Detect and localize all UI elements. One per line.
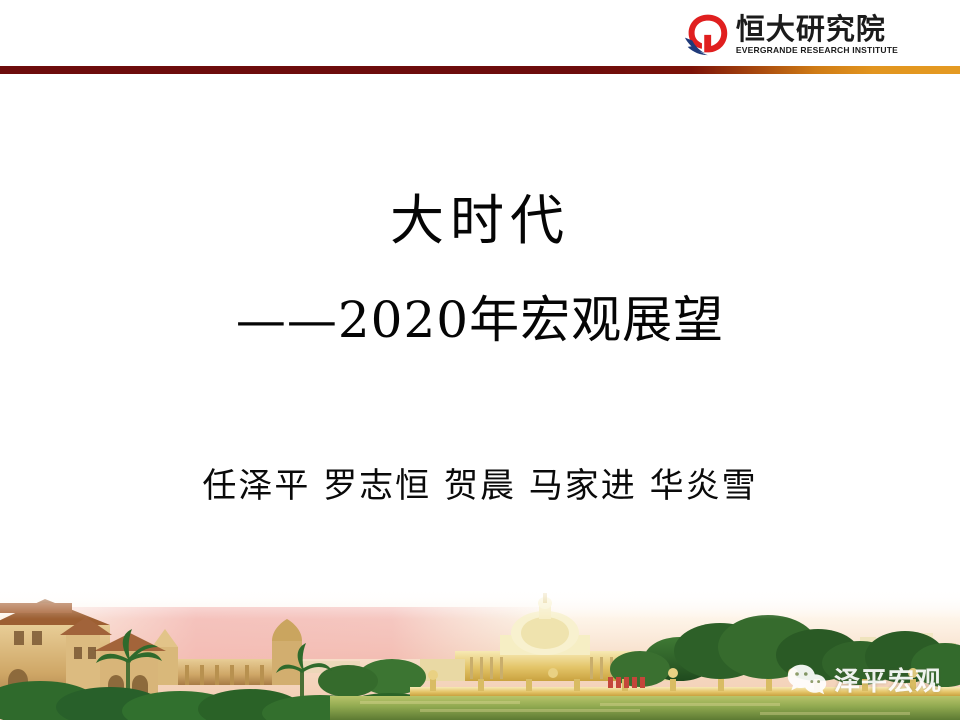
footer-illustration	[0, 585, 960, 720]
logo-text-block: 恒大研究院 EVERGRANDE RESEARCH INSTITUTE	[736, 14, 898, 55]
page-subtitle: ——2020年宏观展望	[0, 290, 960, 350]
evergrande-logo-mark	[684, 11, 730, 57]
logo-english-name: EVERGRANDE RESEARCH INSTITUTE	[736, 46, 898, 55]
slide-canvas: 恒大研究院 EVERGRANDE RESEARCH INSTITUTE 大时代 …	[0, 0, 960, 720]
header-gradient-rule	[0, 66, 960, 74]
logo-chinese-name: 恒大研究院	[736, 14, 886, 44]
title-area: 大时代 ——2020年宏观展望	[0, 190, 960, 350]
page-title: 大时代	[0, 190, 960, 252]
author-list: 任泽平 罗志恒 贺晨 马家进 华炎雪	[0, 458, 960, 507]
wechat-icon	[787, 663, 827, 697]
slide-header: 恒大研究院 EVERGRANDE RESEARCH INSTITUTE	[0, 0, 960, 66]
wechat-watermark: 泽平宏观	[787, 661, 942, 698]
evergrande-research-logo: 恒大研究院 EVERGRANDE RESEARCH INSTITUTE	[684, 10, 898, 58]
wechat-account-name: 泽平宏观	[834, 661, 942, 698]
